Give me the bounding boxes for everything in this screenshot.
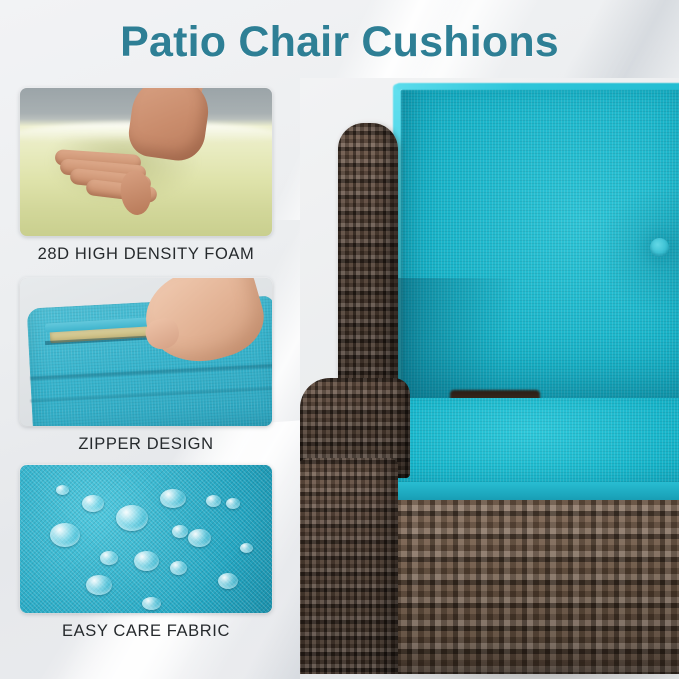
- water-droplet: [86, 575, 112, 595]
- water-droplet: [142, 597, 161, 610]
- feature-caption-high-density-foam: 28D HIGH DENSITY FOAM: [20, 245, 272, 264]
- water-droplet: [56, 485, 69, 495]
- feature-card-zipper-design: ZIPPER DESIGN: [20, 278, 272, 454]
- feature-image-easy-care-fabric: [20, 465, 272, 613]
- water-droplet: [206, 495, 221, 507]
- feature-image-zipper-design: [20, 278, 272, 426]
- water-droplet: [240, 543, 253, 553]
- water-droplet: [170, 561, 187, 575]
- water-droplet: [50, 523, 80, 547]
- water-droplet: [188, 529, 211, 547]
- feature-image-high-density-foam: [20, 88, 272, 236]
- floor-contact-shadow: [360, 668, 679, 679]
- water-droplet: [100, 551, 118, 565]
- water-droplet: [134, 551, 159, 571]
- page-title: Patio Chair Cushions: [0, 14, 679, 70]
- wicker-armrest-front: [300, 458, 398, 679]
- cushion-piping-top: [396, 83, 679, 90]
- water-droplet: [218, 573, 238, 589]
- feature-card-high-density-foam: 28D HIGH DENSITY FOAM: [20, 88, 272, 264]
- feature-card-easy-care-fabric: EASY CARE FABRIC: [20, 465, 272, 641]
- water-droplet: [226, 498, 240, 509]
- feature-caption-easy-care-fabric: EASY CARE FABRIC: [20, 622, 272, 641]
- hand-pressing-foam: [20, 88, 272, 236]
- infographic-canvas: Patio Chair Cushions 28D HIGH DENSITY FO…: [0, 0, 679, 679]
- feature-caption-zipper-design: ZIPPER DESIGN: [20, 435, 272, 454]
- palm: [126, 88, 212, 164]
- product-photo: [300, 78, 679, 679]
- tufted-button: [650, 238, 669, 257]
- water-droplet: [82, 495, 104, 512]
- water-droplet-group: [20, 465, 272, 613]
- water-droplet: [172, 525, 188, 538]
- water-droplet: [116, 505, 148, 531]
- water-droplet: [160, 489, 186, 508]
